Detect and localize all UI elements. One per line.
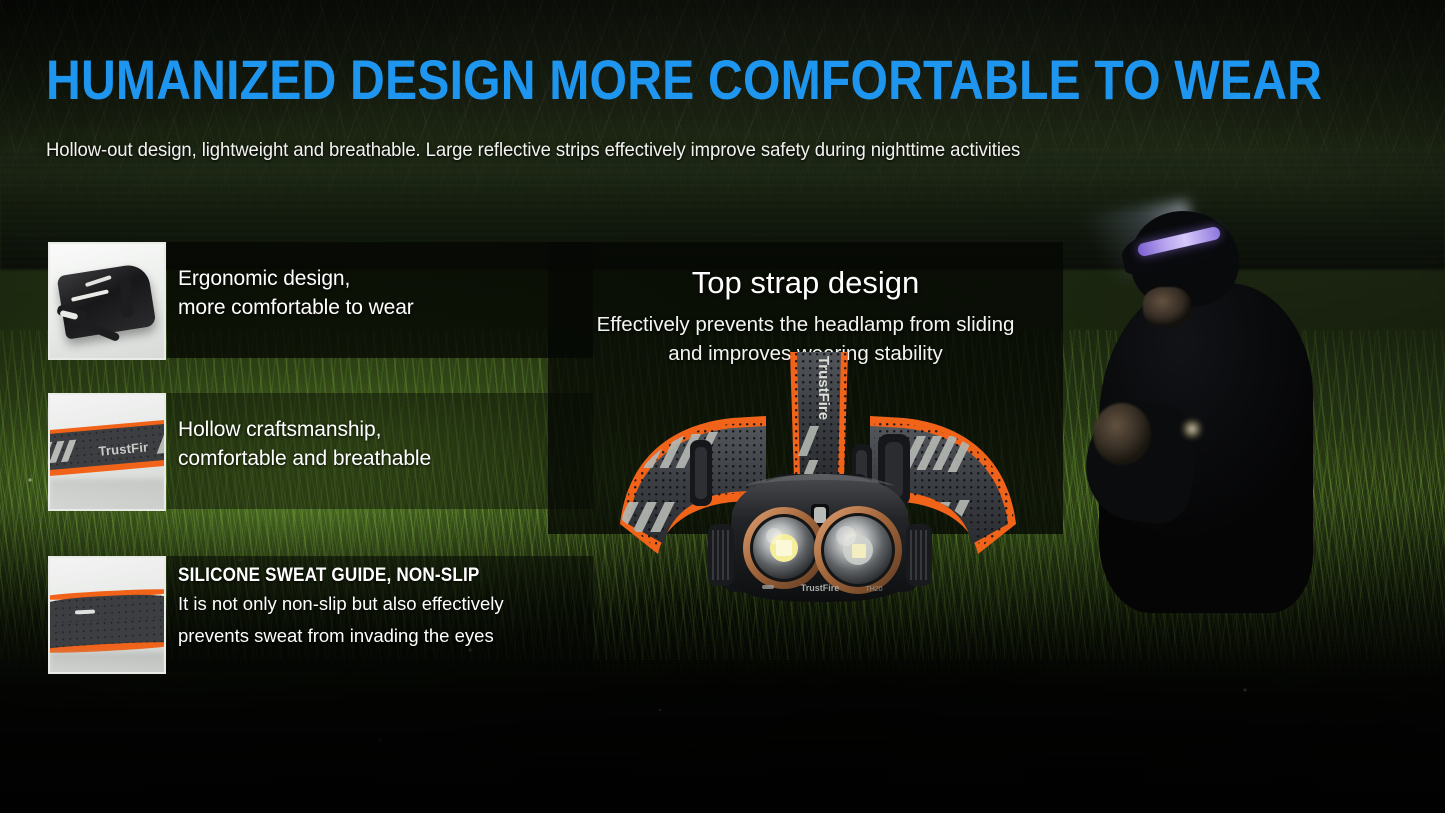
person-forearm-skin xyxy=(1093,403,1151,465)
right-led-lens xyxy=(814,506,902,594)
feature-text: SILICONE SWEAT GUIDE, NON-SLIP It is not… xyxy=(178,564,513,652)
person-neck xyxy=(1143,287,1191,327)
left-led-lens xyxy=(743,507,825,589)
feature-line-2: prevents sweat from invading the eyes xyxy=(178,620,513,652)
thumbnail-perforated-strap: TrustFir xyxy=(48,393,166,511)
feature-line-1: It is not only non-slip but also effecti… xyxy=(178,588,513,620)
headlamp-product-image: TrustFire xyxy=(612,352,1024,637)
feature-text: Ergonomic design, more comfortable to we… xyxy=(178,264,414,322)
housing-model-text: TH20 xyxy=(865,586,882,593)
feature-text: Hollow craftsmanship, comfortable and br… xyxy=(178,415,431,473)
feature-line-1: Hollow craftsmanship, xyxy=(178,415,431,444)
page-subtitle: Hollow-out design, lightweight and breat… xyxy=(46,139,1020,162)
feature-line-1: Ergonomic design, xyxy=(178,264,414,293)
feature-ergonomic-design: Ergonomic design, more comfortable to we… xyxy=(48,242,548,360)
feature-hollow-craftsmanship: TrustFir Hollow craftsmanship, comfortab… xyxy=(48,393,548,511)
top-strap: TrustFire xyxy=(790,352,850,490)
hero-title: Top strap design xyxy=(548,263,1063,303)
thumbnail-headlamp-bracket xyxy=(48,242,166,360)
housing-brand-text: TrustFire xyxy=(801,583,840,593)
product-banner: HUMANIZED DESIGN MORE COMFORTABLE TO WEA… xyxy=(0,0,1445,813)
feature-line-2: comfortable and breathable xyxy=(178,444,431,473)
top-strap-brand-text: TrustFire xyxy=(815,356,832,420)
page-title: HUMANIZED DESIGN MORE COMFORTABLE TO WEA… xyxy=(46,52,1322,108)
person-wearing-headlamp xyxy=(1085,205,1335,625)
feature-line-2: more comfortable to wear xyxy=(178,293,414,322)
hero-line-1: Effectively prevents the headlamp from s… xyxy=(548,310,1063,339)
feature-heading: SILICONE SWEAT GUIDE, NON-SLIP xyxy=(178,564,480,588)
thumbnail-silicone-sweat-guide xyxy=(48,556,166,674)
feature-silicone-sweat-guide: SILICONE SWEAT GUIDE, NON-SLIP It is not… xyxy=(48,556,548,674)
ambient-light-glow xyxy=(1181,419,1203,439)
